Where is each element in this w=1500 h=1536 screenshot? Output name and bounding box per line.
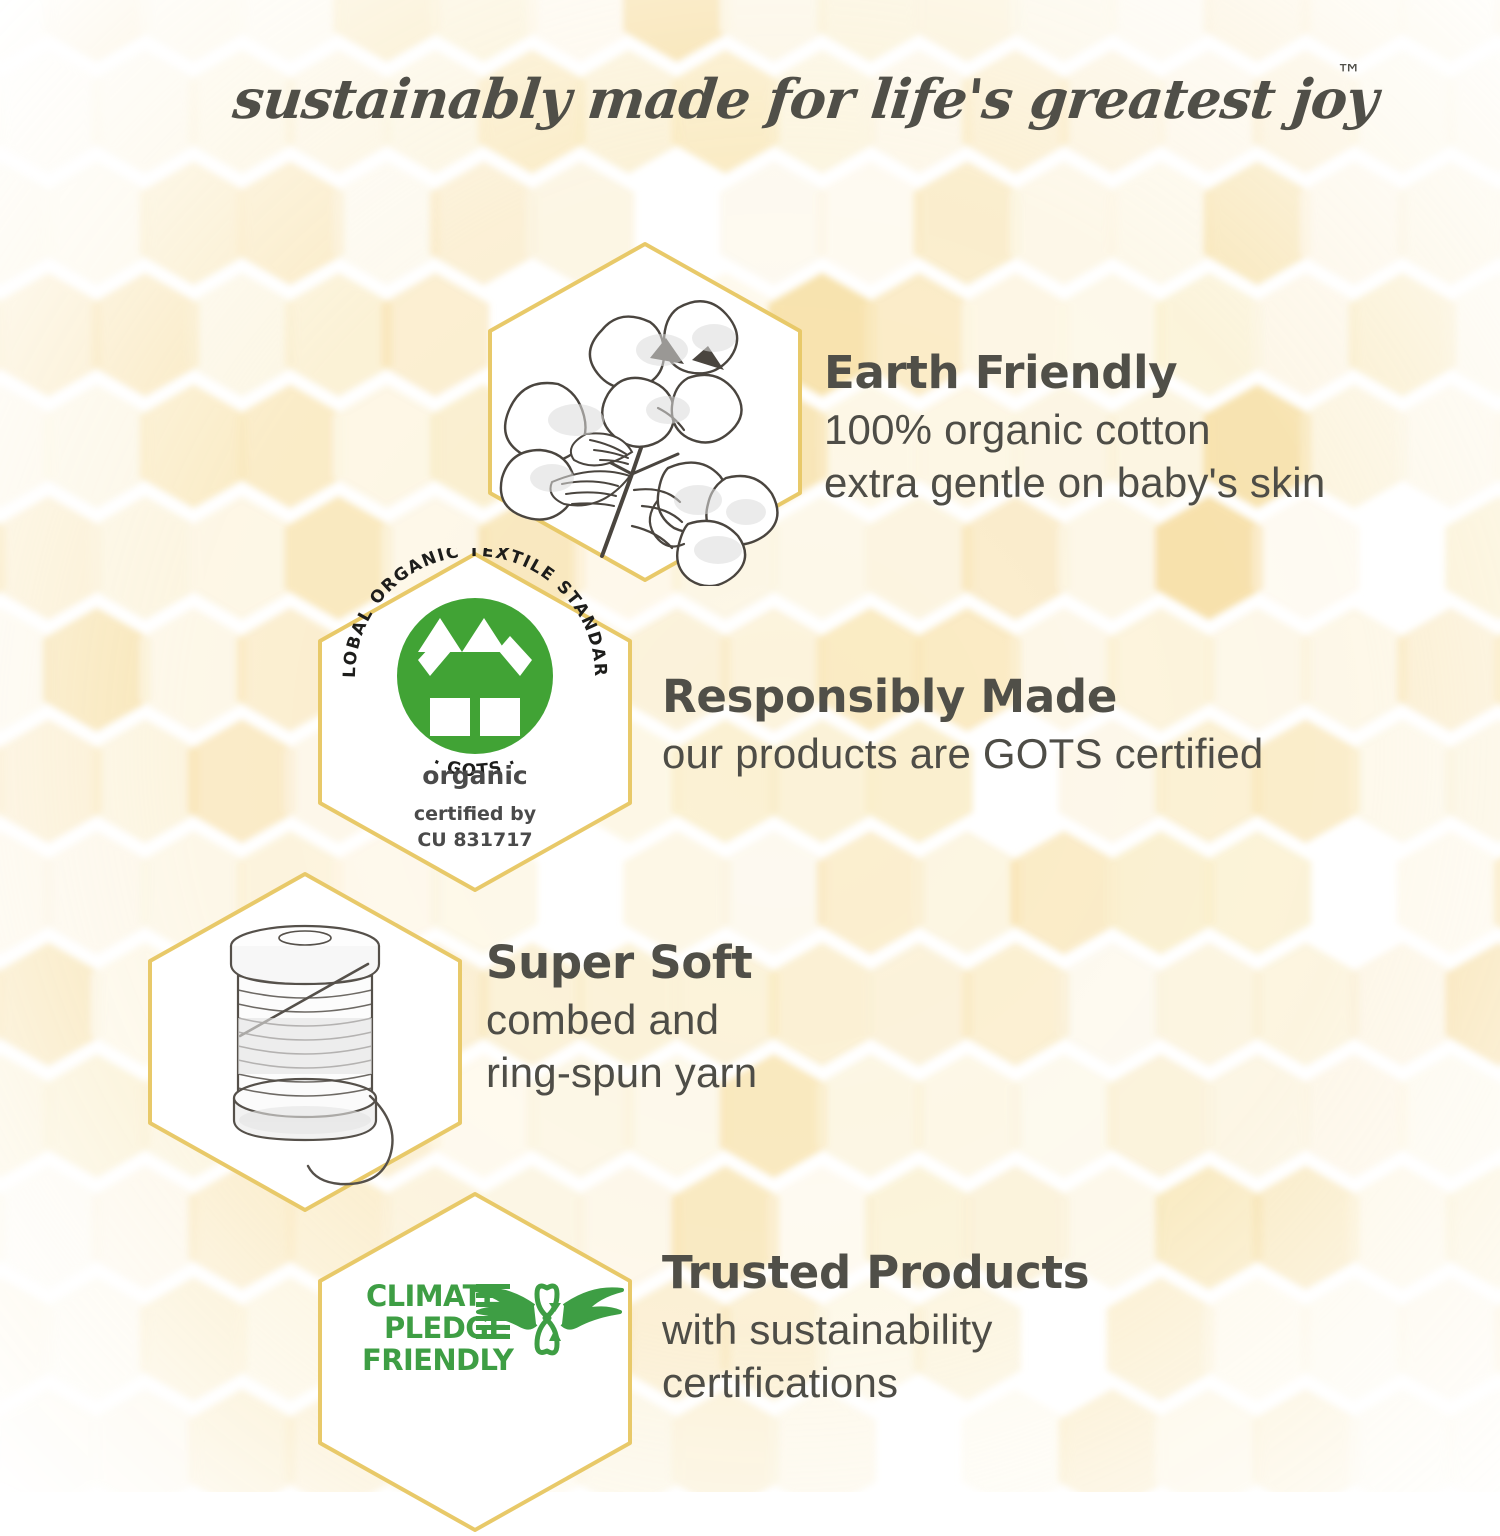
honeycomb-cell (139, 1277, 247, 1401)
honeycomb-cell (0, 942, 102, 1066)
honeycomb-cell (1155, 496, 1263, 620)
honeycomb-cell (962, 942, 1070, 1066)
honeycomb-cell (1397, 831, 1500, 955)
honeycomb-cell (1348, 273, 1456, 397)
honeycomb-cell (1107, 1277, 1215, 1401)
feature-line: combed and (486, 993, 757, 1047)
honeycomb-cell (236, 161, 344, 285)
honeycomb-cell (816, 1054, 924, 1178)
feature-text-earth-friendly: Earth Friendly 100% organic cotton extra… (824, 348, 1325, 510)
honeycomb-cell (91, 496, 199, 620)
honeycomb-cell (1203, 161, 1311, 285)
feature-title: Super Soft (486, 938, 757, 988)
honeycomb-cell (1252, 496, 1360, 620)
honeycomb-cell (1010, 1054, 1118, 1178)
honeycomb-cell (1348, 942, 1456, 1066)
honeycomb-cell (1494, 1277, 1500, 1401)
honeycomb-cell (865, 496, 973, 620)
honeycomb-cell (1397, 608, 1500, 732)
honeycomb-cell (913, 831, 1021, 955)
honeycomb-cell (1203, 1277, 1311, 1401)
honeycomb-cell (1397, 161, 1500, 285)
feature-title: Trusted Products (662, 1248, 1089, 1298)
honeycomb-cell (236, 384, 344, 508)
honeycomb-cell (816, 161, 924, 285)
honeycomb-cell (0, 273, 102, 397)
honeycomb-cell (285, 273, 393, 397)
honeycomb-cell (1397, 384, 1500, 508)
infographic-canvas: sustainably made for life's greatest joy… (0, 0, 1500, 1492)
feature-line: with sustainability (662, 1303, 1089, 1357)
feature-line: our products are GOTS certified (662, 727, 1263, 781)
honeycomb-cell (1252, 942, 1360, 1066)
honeycomb-cell (768, 942, 876, 1066)
honeycomb-cell (1445, 1166, 1500, 1290)
honeycomb-cell (1397, 1054, 1500, 1178)
honeycomb-cell (865, 942, 973, 1066)
honeycomb-cell (1445, 496, 1500, 620)
honeycomb-cell (0, 1389, 102, 1492)
honeycomb-cell (43, 1054, 151, 1178)
honeycomb-cell (1300, 161, 1408, 285)
honeycomb-cell (1300, 1054, 1408, 1178)
honeycomb-cell (1252, 1389, 1360, 1492)
cp-line-3: FRIENDLY (362, 1343, 515, 1377)
honeycomb-cell (139, 384, 247, 508)
feature-title: Responsibly Made (662, 672, 1263, 722)
honeycomb-cell (1252, 719, 1360, 843)
headline-banner: sustainably made for life's greatest joy… (0, 36, 1500, 156)
honeycomb-cell (1058, 496, 1166, 620)
honeycomb-cell (962, 496, 1070, 620)
honeycomb-cell (1300, 1277, 1408, 1401)
honeycomb-cell (91, 1389, 199, 1492)
honeycomb-cell (1445, 1389, 1500, 1492)
honeycomb-cell (188, 1389, 296, 1492)
hex-card-responsibly-made[interactable]: GLOBAL ORGANIC TEXTILE STANDARD · GOTS ·… (312, 548, 638, 896)
hex-card-super-soft[interactable] (142, 868, 468, 1216)
feature-text-responsibly-made: Responsibly Made our products are GOTS c… (662, 672, 1263, 780)
honeycomb-cell (1252, 1166, 1360, 1290)
feature-line: certifications (662, 1356, 1089, 1410)
honeycomb-cell (381, 273, 489, 397)
honeycomb-cell (1155, 1166, 1263, 1290)
honeycomb-cell (43, 1277, 151, 1401)
honeycomb-cell (333, 384, 441, 508)
honeycomb-cell (333, 161, 441, 285)
honeycomb-cell (1203, 1054, 1311, 1178)
hex-card-earth-friendly[interactable] (482, 238, 808, 586)
honeycomb-cell (1010, 161, 1118, 285)
honeycomb-cell (1203, 831, 1311, 955)
honeycomb-cell (1494, 161, 1500, 285)
honeycomb-cell (43, 831, 151, 955)
honeycomb-cell (0, 1166, 102, 1290)
gots-label-certified-by: certified by (414, 803, 537, 825)
hex-card-trusted-products[interactable]: CLIMATE PLEDGE FRIENDLY (312, 1188, 638, 1536)
honeycomb-cell (188, 719, 296, 843)
headline-label: sustainably made for life's greatest joy (229, 67, 1385, 131)
honeycomb-cell (1445, 942, 1500, 1066)
feature-line: ring-spun yarn (486, 1046, 757, 1100)
honeycomb-cell (188, 496, 296, 620)
honeycomb-cell (1348, 1166, 1456, 1290)
honeycomb-cell (0, 719, 102, 843)
honeycomb-cell (1107, 161, 1215, 285)
honeycomb-cell (1010, 831, 1118, 955)
honeycomb-cell (816, 831, 924, 955)
honeycomb-cell (1348, 1389, 1456, 1492)
feature-line: extra gentle on baby's skin (824, 456, 1325, 510)
gots-label-organic: organic (422, 761, 527, 790)
honeycomb-cell (1155, 1389, 1263, 1492)
honeycomb-cell (1494, 608, 1500, 732)
honeycomb-cell (43, 161, 151, 285)
honeycomb-cell (1397, 1277, 1500, 1401)
honeycomb-cell (1058, 942, 1166, 1066)
honeycomb-cell (139, 161, 247, 285)
feature-line: 100% organic cotton (824, 403, 1325, 457)
honeycomb-cell (1348, 719, 1456, 843)
honeycomb-cell (913, 161, 1021, 285)
honeycomb-cell (1494, 384, 1500, 508)
honeycomb-cell (1300, 608, 1408, 732)
feature-text-trusted-products: Trusted Products with sustainability cer… (662, 1248, 1089, 1410)
honeycomb-cell (1494, 831, 1500, 955)
honeycomb-cell (43, 608, 151, 732)
honeycomb-cell (43, 384, 151, 508)
gots-green-disc (397, 598, 553, 754)
headline-script-text: sustainably made for life's greatest joy… (100, 36, 1400, 156)
honeycomb-cell (1107, 831, 1215, 955)
honeycomb-cell (0, 496, 102, 620)
honeycomb-cell (1107, 1054, 1215, 1178)
honeycomb-cell (1445, 273, 1500, 397)
honeycomb-cell (188, 273, 296, 397)
honeycomb-cell (91, 273, 199, 397)
honeycomb-cell (913, 1054, 1021, 1178)
feature-title: Earth Friendly (824, 348, 1325, 398)
gots-label-code: CU 831717 (417, 829, 532, 851)
honeycomb-cell (1445, 719, 1500, 843)
honeycomb-cell (139, 608, 247, 732)
honeycomb-cell (1155, 942, 1263, 1066)
honeycomb-cell (91, 719, 199, 843)
feature-text-super-soft: Super Soft combed and ring-spun yarn (486, 938, 757, 1100)
trademark-symbol: ™ (1336, 60, 1362, 90)
